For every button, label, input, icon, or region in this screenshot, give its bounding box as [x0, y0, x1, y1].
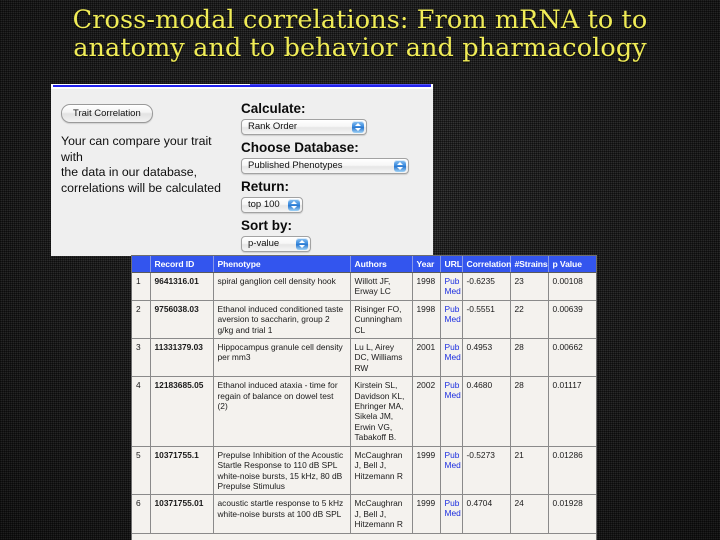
- cell-index: 1: [132, 273, 150, 301]
- cell-strains: 24: [510, 495, 548, 533]
- form-description-line-4: correlations will be calculated: [61, 181, 271, 197]
- cell-phenotype: acoustic startle response to 5 kHz white…: [213, 495, 350, 533]
- cell-record_id[interactable]: 10371755.1: [150, 446, 213, 495]
- cell-record_id[interactable]: 9641316.01: [150, 273, 213, 301]
- cell-p_value: 0.01117: [548, 377, 596, 446]
- pubmed-link-line-1: Pub: [445, 276, 458, 286]
- table-row[interactable]: 311331379.03Hippocampus granule cell den…: [132, 339, 596, 377]
- cell-phenotype: Hippocampus granule cell density per mm3: [213, 339, 350, 377]
- table-row[interactable]: 412183685.05Ethanol induced ataxia - tim…: [132, 377, 596, 446]
- cell-correlation: 0.4680: [462, 377, 510, 446]
- cell-record_id[interactable]: 9756038.03: [150, 300, 213, 338]
- cell-url[interactable]: PubMed: [440, 377, 462, 446]
- pubmed-link-line-2: Med: [445, 352, 458, 362]
- pubmed-link[interactable]: PubMed: [445, 380, 458, 400]
- cell-correlation: -0.6235: [462, 273, 510, 301]
- cell-correlation: 0.4953: [462, 339, 510, 377]
- form-description: Your can compare your trait with the dat…: [61, 134, 271, 196]
- cell-year: 1999: [412, 446, 440, 495]
- cell-year: 2002: [412, 377, 440, 446]
- cell-url[interactable]: PubMed: [440, 273, 462, 301]
- label-choose-database: Choose Database:: [241, 140, 431, 156]
- cell-p_value: 0.00662: [548, 339, 596, 377]
- label-sort-by: Sort by:: [241, 218, 431, 234]
- cell-index: 3: [132, 339, 150, 377]
- cell-authors: Lu L, Airey DC, Williams RW: [350, 339, 412, 377]
- cell-authors: Kirstein SL, Davidson KL, Ehringer MA, S…: [350, 377, 412, 446]
- trait-correlation-form-panel: Trait Correlation Your can compare your …: [51, 84, 433, 256]
- trait-correlation-button[interactable]: Trait Correlation: [61, 104, 153, 123]
- results-table-panel: Record ID Phenotype Authors Year URL Cor…: [131, 255, 597, 540]
- cell-p_value: 0.00639: [548, 300, 596, 338]
- cell-index: 4: [132, 377, 150, 446]
- col-header-p-value[interactable]: p Value: [548, 256, 596, 273]
- col-header-year[interactable]: Year: [412, 256, 440, 273]
- cell-phenotype: Ethanol induced conditioned taste aversi…: [213, 300, 350, 338]
- pubmed-link[interactable]: PubMed: [445, 276, 458, 296]
- page-title-line-2: anatomy and to behavior and pharmacology: [18, 34, 702, 63]
- cell-correlation: -0.5551: [462, 300, 510, 338]
- cell-strains: 22: [510, 300, 548, 338]
- pubmed-link-line-2: Med: [445, 390, 458, 400]
- cell-url[interactable]: PubMed: [440, 300, 462, 338]
- cell-index: 2: [132, 300, 150, 338]
- table-row[interactable]: 19641316.01spiral ganglion cell density …: [132, 273, 596, 301]
- cell-year: 1998: [412, 273, 440, 301]
- page-title-line-1: Cross-modal correlations: From mRNA to t…: [18, 6, 702, 35]
- accent-rule-segment: [250, 84, 431, 85]
- col-header-url[interactable]: URL: [440, 256, 462, 273]
- form-fields: Calculate: Rank Order Choose Database: P…: [241, 101, 431, 256]
- pubmed-link-line-1: Pub: [445, 498, 458, 508]
- cell-strains: 28: [510, 377, 548, 446]
- col-header-strains[interactable]: #Strains: [510, 256, 548, 273]
- cell-correlation: -0.5273: [462, 446, 510, 495]
- cell-year: 1999: [412, 495, 440, 533]
- pubmed-link-line-2: Med: [445, 460, 458, 470]
- cell-record_id[interactable]: 12183685.05: [150, 377, 213, 446]
- cell-correlation: 0.4704: [462, 495, 510, 533]
- pubmed-link-line-2: Med: [445, 508, 458, 518]
- cell-year: 1998: [412, 300, 440, 338]
- table-row[interactable]: 510371755.1Prepulse Inhibition of the Ac…: [132, 446, 596, 495]
- chevron-updown-icon: [394, 160, 406, 172]
- select-sort-by[interactable]: p-value: [241, 236, 311, 252]
- chevron-updown-icon: [352, 121, 364, 133]
- chevron-updown-icon: [288, 199, 300, 211]
- chevron-updown-icon: [296, 238, 308, 250]
- cell-url[interactable]: PubMed: [440, 495, 462, 533]
- cell-strains: 21: [510, 446, 548, 495]
- col-header-index[interactable]: [132, 256, 150, 273]
- cell-p_value: 0.01286: [548, 446, 596, 495]
- cell-year: 2001: [412, 339, 440, 377]
- cell-p_value: 0.01928: [548, 495, 596, 533]
- select-database[interactable]: Published Phenotypes: [241, 158, 409, 174]
- col-header-phenotype[interactable]: Phenotype: [213, 256, 350, 273]
- cell-strains: 23: [510, 273, 548, 301]
- cell-phenotype: Prepulse Inhibition of the Acoustic Star…: [213, 446, 350, 495]
- cell-authors: McCaughran J, Bell J, Hitzemann R: [350, 495, 412, 533]
- pubmed-link-line-1: Pub: [445, 380, 458, 390]
- pubmed-link-line-1: Pub: [445, 450, 458, 460]
- panel-top-rule: [51, 84, 433, 89]
- cell-phenotype: Ethanol induced ataxia - time for regain…: [213, 377, 350, 446]
- pubmed-link[interactable]: PubMed: [445, 450, 458, 470]
- cell-record_id[interactable]: 10371755.01: [150, 495, 213, 533]
- accent-rule: [53, 85, 431, 87]
- select-calculate[interactable]: Rank Order: [241, 119, 367, 135]
- pubmed-link-line-1: Pub: [445, 304, 458, 314]
- label-return: Return:: [241, 179, 431, 195]
- col-header-correlation[interactable]: Correlation: [462, 256, 510, 273]
- table-header-row: Record ID Phenotype Authors Year URL Cor…: [132, 256, 596, 273]
- pubmed-link-line-2: Med: [445, 314, 458, 324]
- table-row[interactable]: 610371755.01acoustic startle response to…: [132, 495, 596, 533]
- label-calculate: Calculate:: [241, 101, 431, 117]
- page-title: Cross-modal correlations: From mRNA to t…: [0, 6, 720, 63]
- cell-record_id[interactable]: 11331379.03: [150, 339, 213, 377]
- pubmed-link-line-1: Pub: [445, 342, 458, 352]
- results-table: Record ID Phenotype Authors Year URL Cor…: [132, 256, 596, 534]
- pubmed-link[interactable]: PubMed: [445, 304, 458, 324]
- form-description-line-2: with: [61, 150, 271, 166]
- cell-index: 5: [132, 446, 150, 495]
- cell-p_value: 0.00108: [548, 273, 596, 301]
- form-description-line-3: the data in our database,: [61, 165, 271, 181]
- cell-authors: Risinger FO, Cunningham CL: [350, 300, 412, 338]
- cell-url[interactable]: PubMed: [440, 446, 462, 495]
- pubmed-link-line-2: Med: [445, 286, 458, 296]
- cell-index: 6: [132, 495, 150, 533]
- form-description-line-1: Your can compare your trait: [61, 134, 271, 150]
- select-database-value: Published Phenotypes: [242, 159, 408, 173]
- select-return[interactable]: top 100: [241, 197, 303, 213]
- slide-canvas: Cross-modal correlations: From mRNA to t…: [0, 0, 720, 540]
- cell-phenotype: spiral ganglion cell density hook: [213, 273, 350, 301]
- col-header-authors[interactable]: Authors: [350, 256, 412, 273]
- cell-authors: McCaughran J, Bell J, Hitzemann R: [350, 446, 412, 495]
- cell-strains: 28: [510, 339, 548, 377]
- results-table-body: 19641316.01spiral ganglion cell density …: [132, 273, 596, 534]
- table-row[interactable]: 29756038.03Ethanol induced conditioned t…: [132, 300, 596, 338]
- pubmed-link[interactable]: PubMed: [445, 342, 458, 362]
- cell-url[interactable]: PubMed: [440, 339, 462, 377]
- col-header-record-id[interactable]: Record ID: [150, 256, 213, 273]
- pubmed-link[interactable]: PubMed: [445, 498, 458, 518]
- cell-authors: Willott JF, Erway LC: [350, 273, 412, 301]
- select-calculate-value: Rank Order: [242, 120, 366, 134]
